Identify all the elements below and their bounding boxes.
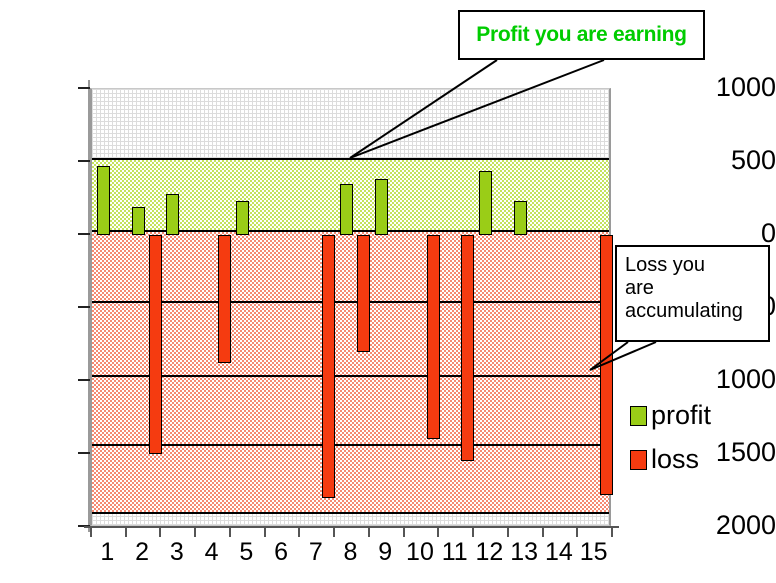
- x-tick-1: [125, 526, 127, 537]
- x-tick-2: [159, 526, 161, 537]
- x-axis-label-9: 9: [370, 540, 400, 565]
- x-axis-label-5: 5: [231, 540, 261, 565]
- x-axis-label-11: 11: [440, 540, 470, 565]
- x-tick-10: [437, 526, 439, 537]
- y-axis-label-2: 0: [698, 220, 776, 247]
- callout-profit: Profit you are earning: [458, 10, 705, 60]
- bar-profit-13[interactable]: [514, 201, 527, 235]
- bar-profit-12[interactable]: [479, 171, 492, 235]
- y-tick-0: [78, 233, 90, 235]
- x-tick-3: [194, 526, 196, 537]
- legend-item-loss[interactable]: loss: [630, 446, 711, 473]
- bar-loss-4[interactable]: [218, 235, 231, 363]
- x-tick-8: [368, 526, 370, 537]
- x-tick-14: [576, 526, 578, 537]
- x-axis-line: [84, 526, 619, 528]
- x-tick-0: [90, 526, 92, 537]
- x-tick-11: [472, 526, 474, 537]
- x-tick-9: [403, 526, 405, 537]
- x-tick-12: [507, 526, 509, 537]
- x-axis-label-13: 13: [509, 540, 539, 565]
- plot-area: [90, 88, 611, 526]
- y-tick-500: [78, 160, 90, 162]
- bar-profit-9[interactable]: [375, 179, 388, 235]
- callout-profit-text: Profit you are earning: [476, 23, 686, 47]
- y-tick-1000: [78, 87, 90, 89]
- bar-loss-15[interactable]: [600, 235, 613, 495]
- x-axis-label-8: 8: [336, 540, 366, 565]
- bar-profit-2[interactable]: [132, 207, 145, 235]
- bar-loss-11[interactable]: [461, 235, 474, 461]
- x-axis-label-7: 7: [301, 540, 331, 565]
- y-tick-1000: [78, 379, 90, 381]
- y-axis-label-6: 2000: [698, 512, 776, 539]
- callout-loss-line-1: Loss you: [625, 254, 760, 277]
- y-tick-500: [78, 306, 90, 308]
- x-axis-label-14: 14: [544, 540, 574, 565]
- x-axis-label-10: 10: [405, 540, 435, 565]
- legend-label-profit: profit: [651, 402, 711, 429]
- chart-container: 10005000500100015002000 1234567891011121…: [0, 0, 776, 583]
- bar-loss-7[interactable]: [322, 235, 335, 498]
- bar-profit-5[interactable]: [236, 201, 249, 235]
- x-tick-5: [264, 526, 266, 537]
- bar-loss-10[interactable]: [427, 235, 440, 439]
- y-axis-label-0: 1000: [698, 74, 776, 101]
- x-axis-label-12: 12: [474, 540, 504, 565]
- legend-item-profit[interactable]: profit: [630, 402, 711, 429]
- x-tick-6: [298, 526, 300, 537]
- x-tick-13: [542, 526, 544, 537]
- bar-loss-2[interactable]: [149, 235, 162, 454]
- legend: profit loss: [630, 402, 711, 490]
- callout-loss-line-3: accumulating: [625, 300, 760, 323]
- legend-label-loss: loss: [651, 446, 699, 473]
- x-axis-label-4: 4: [197, 540, 227, 565]
- y-axis-label-1: 500: [698, 147, 776, 174]
- x-axis-label-2: 2: [127, 540, 157, 565]
- callout-loss-line-2: are: [625, 277, 760, 300]
- bar-profit-8[interactable]: [340, 184, 353, 235]
- callout-loss: Loss you are accumulating: [615, 245, 770, 342]
- x-axis-label-1: 1: [92, 540, 122, 565]
- x-axis-label-15: 15: [579, 540, 609, 565]
- y-axis-label-4: 1000: [698, 366, 776, 393]
- bar-profit-1[interactable]: [97, 166, 110, 235]
- legend-swatch-loss-icon: [630, 450, 647, 470]
- bars-layer: [92, 89, 609, 525]
- legend-swatch-profit-icon: [630, 406, 647, 426]
- y-tick-1500: [78, 452, 90, 454]
- bar-loss-8[interactable]: [357, 235, 370, 352]
- x-tick-7: [333, 526, 335, 537]
- x-axis-label-3: 3: [162, 540, 192, 565]
- x-axis-label-6: 6: [266, 540, 296, 565]
- bar-profit-3[interactable]: [166, 194, 179, 235]
- x-tick-15: [611, 526, 613, 537]
- x-tick-4: [229, 526, 231, 537]
